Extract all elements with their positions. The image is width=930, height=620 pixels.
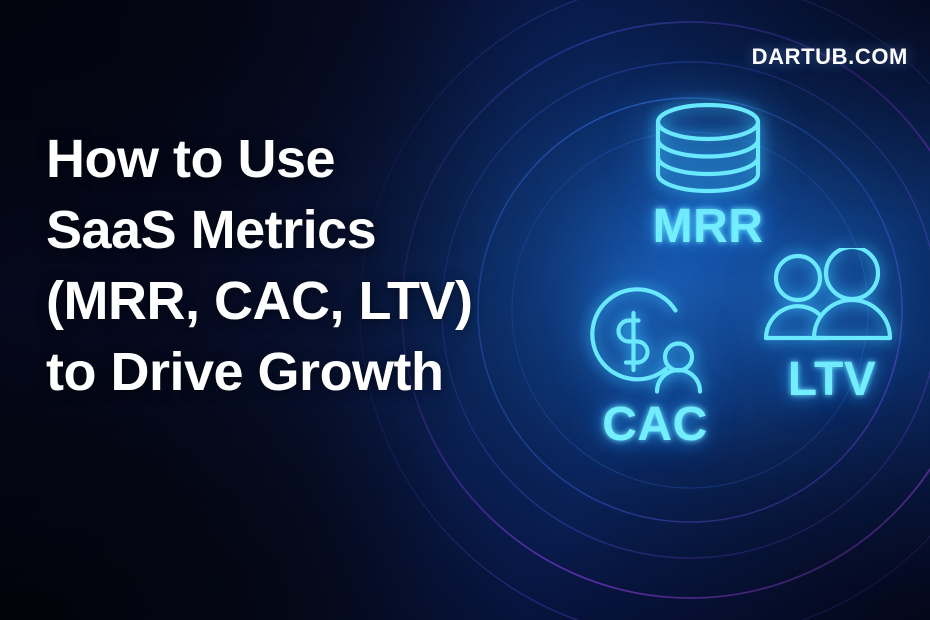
- metric-ltv: LTV: [752, 248, 912, 407]
- thumbnail-canvas: How to Use SaaS Metrics (MRR, CAC, LTV) …: [0, 0, 930, 620]
- database-icon: [608, 100, 808, 198]
- metric-cac-label: CAC: [565, 398, 745, 452]
- metric-mrr: MRR: [608, 100, 808, 254]
- metric-mrr-label: MRR: [608, 200, 808, 254]
- dollar-circle-user-icon: [565, 278, 745, 398]
- users-group-icon: [752, 248, 912, 353]
- metric-ltv-label: LTV: [752, 353, 912, 407]
- metric-cac: CAC: [565, 278, 745, 452]
- metrics-cluster: MRR CAC: [0, 0, 930, 620]
